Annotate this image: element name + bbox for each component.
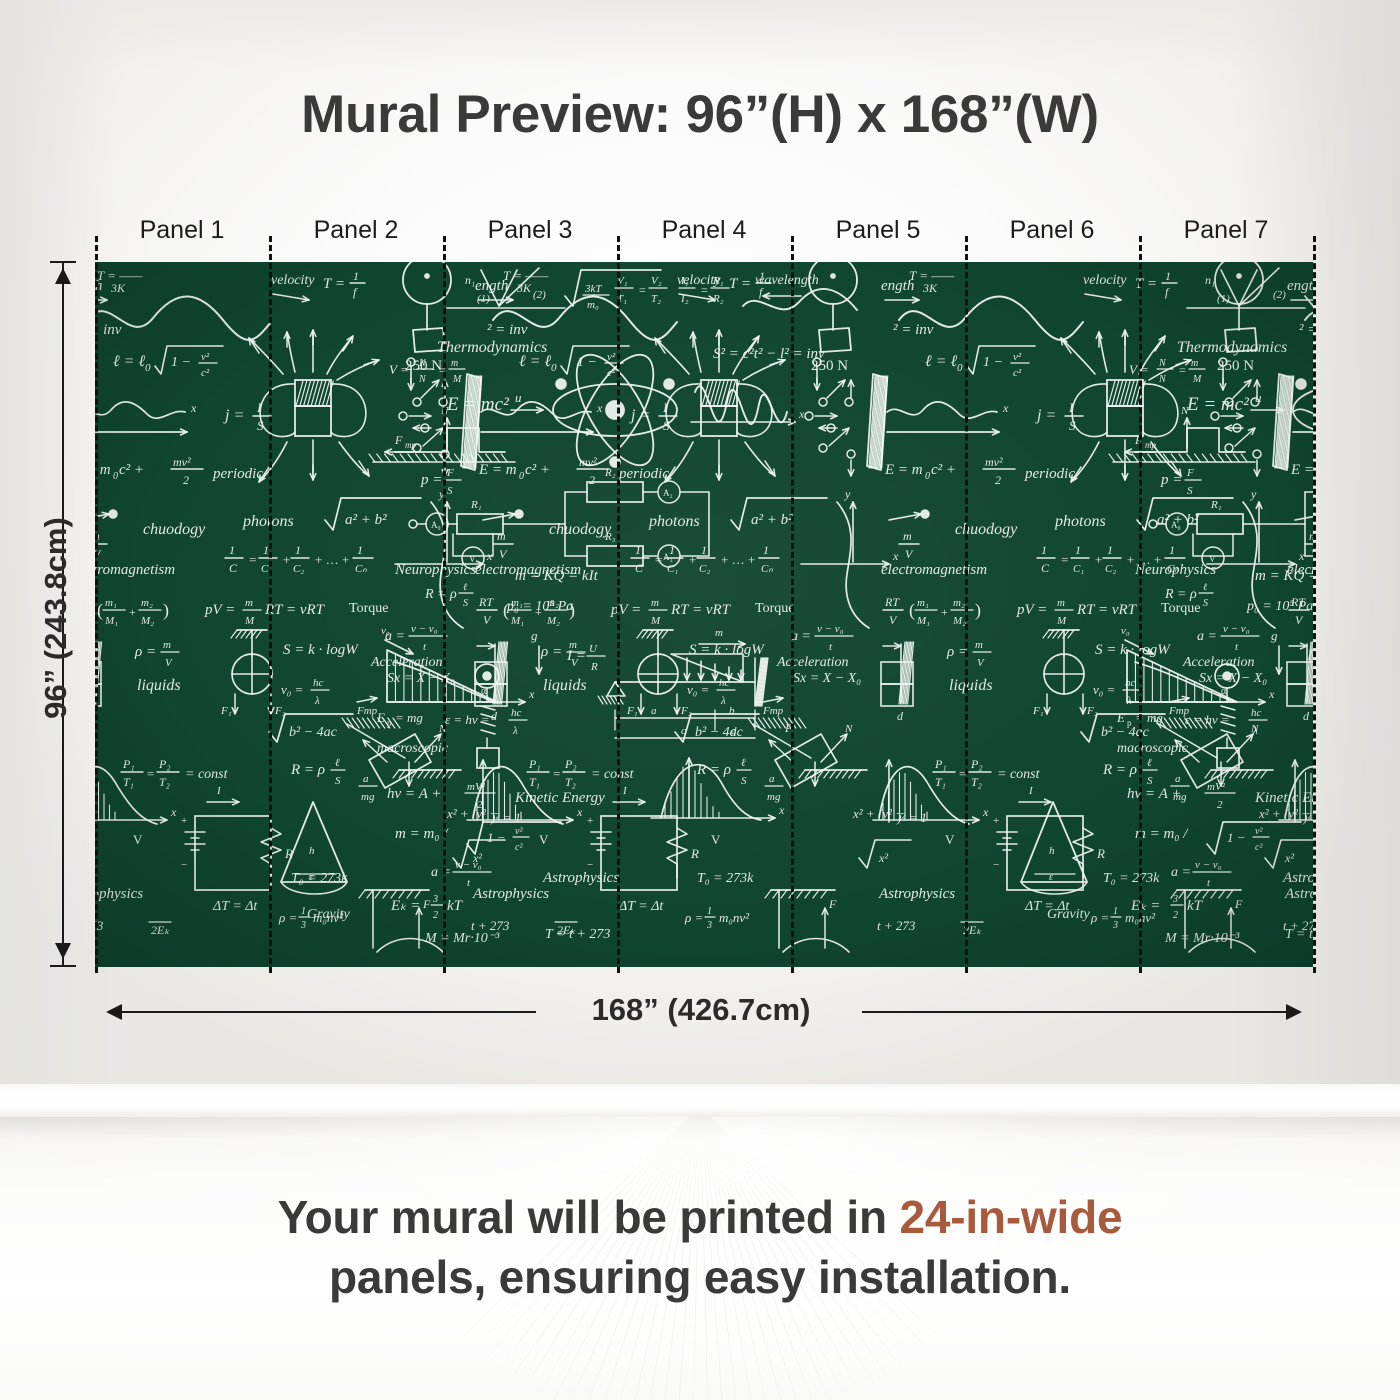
svg-text:m: m (451, 358, 458, 369)
svg-text:g: g (531, 628, 538, 643)
svg-text:R₃: R₃ (604, 531, 616, 543)
svg-text:2: 2 (477, 799, 483, 811)
svg-text:тр: тр (405, 440, 416, 450)
svg-text:p: p (387, 718, 392, 728)
svg-text:I₁: I₁ (680, 275, 689, 287)
svg-text:Eₖ =: Eₖ = (1130, 898, 1160, 914)
svg-text:T = t + 273: T = t + 273 (1285, 927, 1313, 942)
svg-text:E = mc²: E = mc² (446, 394, 509, 415)
svg-text:1 −: 1 − (1227, 830, 1246, 845)
svg-text:Kinetic Energy: Kinetic Energy (1254, 790, 1313, 806)
svg-text:= mg: = mg (395, 710, 423, 725)
svg-text:ε: ε (1049, 872, 1053, 883)
svg-text:R₁: R₁ (1210, 499, 1222, 511)
arrow-up-icon (55, 268, 71, 284)
svg-text:t: t (467, 877, 471, 889)
svg-text:hc: hc (1251, 707, 1262, 719)
svg-text:a: a (651, 705, 657, 717)
panel-label-3: Panel 3 (443, 216, 617, 245)
svg-text:a =: a = (431, 865, 451, 880)
panel-divider-3 (617, 236, 620, 973)
svg-text:m: m (715, 627, 723, 639)
svg-text:ℓ: ℓ (1203, 582, 1207, 593)
svg-text:n₁: n₁ (1205, 273, 1215, 287)
svg-text:R = ρ: R = ρ (1164, 587, 1197, 602)
svg-text:macroscopic: macroscopic (377, 741, 449, 756)
svg-text:S: S (447, 485, 453, 497)
svg-text:N: N (1180, 405, 1189, 417)
svg-text:U: U (589, 643, 598, 655)
width-dimension-line-left (112, 1011, 536, 1013)
svg-text:x: x (778, 803, 785, 817)
svg-text:p =: p = (420, 472, 442, 488)
panel-divider-1 (269, 236, 272, 973)
arrow-left-icon (106, 1004, 122, 1020)
svg-text:R₁: R₁ (470, 499, 482, 511)
svg-text:m: m (1191, 358, 1198, 369)
panel-divider-7 (1313, 236, 1316, 973)
svg-text:(2): (2) (1273, 289, 1286, 301)
svg-text:M: M (1192, 374, 1202, 385)
svg-text:Gravity: Gravity (307, 907, 351, 922)
svg-text:T = t + 273: T = t + 273 (545, 927, 610, 942)
svg-text:A₂: A₂ (663, 488, 673, 498)
svg-text:p₀ = 10⁵ Pa: p₀ = 10⁵ Pa (506, 599, 573, 614)
svg-text:x: x (798, 407, 805, 421)
svg-text:g: g (1271, 628, 1278, 643)
svg-text:E: E (376, 710, 385, 725)
svg-text:R₁: R₁ (712, 275, 724, 287)
width-dimension-label: 168” (426.7cm) (536, 992, 866, 1028)
svg-text:n₁: n₁ (465, 273, 475, 287)
svg-text:m = KQ = kIt: m = KQ = kIt (515, 568, 599, 584)
panel-label-5: Panel 5 (791, 216, 965, 245)
svg-text:R: R (590, 661, 598, 673)
svg-text:v − v₀: v − v₀ (1195, 859, 1222, 871)
svg-text:=: = (639, 283, 646, 297)
svg-text:u: u (1255, 390, 1262, 405)
panel-label-1: Panel 1 (95, 216, 269, 245)
svg-text:p =: p = (1160, 472, 1182, 488)
panel-label-2: Panel 2 (269, 216, 443, 245)
arrow-right-icon (1286, 1004, 1302, 1020)
svg-text:hc: hc (511, 707, 522, 719)
svg-text:S: S (1203, 598, 1208, 609)
mural-preview-page: Mural Preview: 96”(H) x 168”(W) T = ——3K… (0, 0, 1400, 1400)
svg-text:S: S (1187, 485, 1193, 497)
svg-text:d: d (731, 725, 737, 737)
svg-text:I =: I = (566, 648, 586, 664)
svg-text:V =: V = (389, 362, 409, 377)
svg-text:2: 2 (433, 910, 438, 921)
wall-baseboard (0, 1084, 1400, 1118)
svg-text:b: b (729, 705, 735, 717)
svg-text:t: t (1207, 877, 1211, 889)
svg-text:m = m₀ /: m = m₀ / (1135, 826, 1189, 842)
page-title: Mural Preview: 96”(H) x 168”(W) (0, 84, 1400, 145)
svg-text:m = KQ = kIt: m = KQ = kIt (1255, 568, 1313, 584)
svg-text:V₂: V₂ (651, 275, 662, 287)
panel-label-6: Panel 6 (965, 216, 1139, 245)
svg-text:hν = A +: hν = A + (1127, 786, 1182, 802)
svg-text:2: 2 (1217, 799, 1223, 811)
svg-text:Gravity: Gravity (1047, 907, 1091, 922)
svg-text:Thermodynamics: Thermodynamics (437, 339, 547, 356)
svg-text:3: 3 (1172, 894, 1178, 905)
svg-text:A₃: A₃ (663, 552, 673, 562)
svg-text:E: E (1116, 710, 1125, 725)
svg-text:(1): (1) (477, 293, 490, 305)
svg-text:Neurophysics: Neurophysics (1134, 562, 1216, 578)
svg-text:wavelength: wavelength (755, 273, 819, 288)
panel-divider-4 (791, 236, 794, 973)
svg-text:hν = A +: hν = A + (387, 786, 442, 802)
svg-text:c: c (681, 725, 686, 737)
svg-text:u: u (515, 390, 522, 405)
svg-text:E = mc²: E = mc² (1186, 394, 1249, 415)
svg-text:macroscopic: macroscopic (1117, 741, 1189, 756)
svg-text:h: h (1049, 845, 1055, 857)
svg-text:N: N (1158, 374, 1167, 385)
svg-text:3kT: 3kT (584, 283, 602, 295)
footer-line2: panels, ensuring easy installation. (329, 1251, 1071, 1303)
footer-accent-text: 24-in-wide (899, 1191, 1122, 1243)
svg-text:mV²: mV² (467, 781, 486, 793)
svg-text:Eₖ =: Eₖ = (390, 898, 420, 914)
svg-text:m = m₀ /: m = m₀ / (395, 826, 449, 842)
svg-text:v₀: v₀ (1121, 625, 1130, 637)
footer-line1-before: Your mural will be printed in (278, 1191, 900, 1243)
svg-text:=: = (1179, 363, 1186, 377)
svg-text:ℓ: ℓ (463, 582, 467, 593)
svg-text:mV²: mV² (1207, 781, 1226, 793)
svg-text:M = Mr·10⁻³: M = Mr·10⁻³ (424, 931, 500, 946)
svg-text:R = ρ: R = ρ (424, 587, 457, 602)
svg-text:3: 3 (432, 894, 438, 905)
svg-text:Astrophysics: Astrophysics (1282, 870, 1313, 886)
svg-text:F: F (446, 467, 454, 479)
svg-text:S: S (463, 598, 468, 609)
svg-text:S² = c²t² − l² = inv: S² = c²t² − l² = inv (713, 346, 825, 362)
svg-text:h: h (309, 845, 315, 857)
svg-text:c²: c² (1255, 842, 1263, 853)
svg-text:тр: тр (1145, 440, 1156, 450)
svg-text:Astrophysics: Astrophysics (542, 870, 619, 886)
svg-text:I =: I = (1306, 648, 1313, 664)
svg-text:x: x (528, 687, 535, 701)
svg-text:Neurophysics: Neurophysics (394, 562, 476, 578)
svg-text:m₀: m₀ (587, 299, 599, 311)
svg-text:F: F (394, 433, 403, 447)
svg-text:A₀: A₀ (431, 520, 441, 530)
svg-text:p₀ = 10⁵ Pa: p₀ = 10⁵ Pa (1246, 599, 1313, 614)
svg-text:A₀: A₀ (1171, 520, 1181, 530)
footer-note: Your mural will be printed in 24-in-wide… (0, 1188, 1400, 1308)
svg-text:(2): (2) (533, 289, 546, 301)
svg-text:2: 2 (1173, 910, 1178, 921)
svg-text:=: = (701, 283, 708, 297)
svg-text:I₂: I₂ (680, 293, 689, 305)
panel-divider-2 (443, 236, 446, 973)
panel-label-7: Panel 7 (1139, 216, 1313, 245)
svg-text:V: V (711, 832, 721, 847)
svg-text:N: N (418, 374, 427, 385)
svg-text:a =: a = (1171, 865, 1191, 880)
svg-text:p: p (1127, 718, 1132, 728)
svg-text:c²: c² (515, 842, 523, 853)
svg-text:R₂: R₂ (604, 467, 616, 479)
svg-text:(1): (1) (1217, 293, 1230, 305)
svg-text:kT: kT (447, 898, 464, 914)
svg-text:λ: λ (512, 725, 518, 737)
svg-text:Kinetic Energy: Kinetic Energy (514, 790, 605, 806)
svg-text:ε: ε (309, 872, 313, 883)
svg-text:kT: kT (1187, 898, 1204, 914)
height-dimension-label: 96” (243.8cm) (38, 488, 74, 748)
svg-text:T₂: T₂ (651, 293, 661, 305)
svg-text:Thermodynamics: Thermodynamics (1177, 339, 1287, 356)
svg-text:1 −: 1 − (487, 830, 506, 845)
svg-text:M: M (452, 374, 462, 385)
panel-label-4: Panel 4 (617, 216, 791, 245)
svg-text:v²: v² (1255, 826, 1263, 837)
svg-text:N: N (1158, 358, 1167, 369)
chalk-formula-artwork: T = ——3KengthvelocityT =1f250 N² = invℓ … (95, 262, 1313, 967)
width-dimension-line-right (862, 1011, 1286, 1013)
panel-divider-0 (95, 236, 98, 973)
mural-chalkboard-preview: T = ——3KengthvelocityT =1f250 N² = invℓ … (95, 262, 1313, 967)
svg-text:M = Mr·10⁻³: M = Mr·10⁻³ (1164, 931, 1240, 946)
panel-divider-6 (1139, 236, 1142, 973)
svg-text:x: x (1268, 687, 1275, 701)
svg-text:F: F (1186, 467, 1194, 479)
svg-text:v²: v² (515, 826, 523, 837)
panel-divider-5 (965, 236, 968, 973)
svg-text:v − v₀: v − v₀ (455, 859, 482, 871)
wall-top-shading (0, 0, 1400, 70)
svg-text:λ: λ (1252, 725, 1258, 737)
svg-text:R₂: R₂ (712, 293, 724, 305)
svg-text:N: N (418, 358, 427, 369)
arrow-down-icon (55, 943, 71, 959)
svg-text:v₀: v₀ (381, 625, 390, 637)
